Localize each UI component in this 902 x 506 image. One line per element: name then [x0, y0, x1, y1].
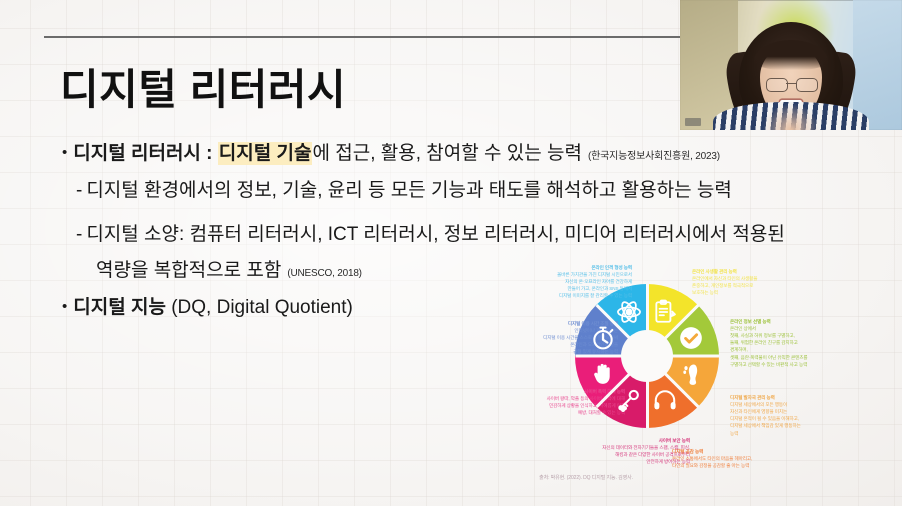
- dq-label-heading: 사이버 보안 능력: [458, 437, 690, 444]
- video-label-badge: [685, 118, 701, 126]
- page-title: 디지털 리터러시: [60, 56, 346, 117]
- line-5-rest: (DQ, Digital Quotient): [166, 297, 353, 318]
- presenter-eyeglass-bridge: [786, 83, 796, 84]
- dq-label-critical-thinking: 온라인 정보 선별 능력온라인 상에서 첫째, 사실과 허위 정보를 구별하고,…: [730, 318, 900, 368]
- dq-label-heading: 디지털 공감 능력: [672, 448, 872, 455]
- dq-donut-center-hole: [621, 330, 673, 382]
- presenter-shoulder-shading: [763, 104, 819, 130]
- dq-source-citation: 출처: 박유현. (2022). DQ 디지털 지능. 김영사.: [436, 474, 736, 481]
- dq-label-heading: 온라인 인격 형성 능력: [452, 264, 632, 271]
- dq-label-heading: 온라인 정보 선별 능력: [730, 318, 900, 325]
- dq-label-privacy: 온라인 사생활 관리 능력온라인에서 자신과 타인의 사생활을 존중하고, 개인…: [692, 268, 842, 296]
- video-wall-right: [853, 0, 902, 130]
- dq-label-body: 자신의 데이터와 전자기기들을 스팸, 스캠, 피싱, 해킹과 같은 다양한 사…: [602, 445, 690, 464]
- bullet-marker: •: [62, 299, 67, 316]
- dq-donut-chart: [575, 284, 719, 428]
- presenter-eyeglass-right: [796, 78, 818, 92]
- line-4-text: 역량을 복합적으로 포함: [96, 260, 281, 281]
- bullet-line-1: •디지털 리터러시 : 디지털 기술에 접근, 활용, 참여할 수 있는 능력(…: [62, 144, 720, 165]
- dq-label-security: 사이버 보안 능력자신의 데이터와 전자기기들을 스팸, 스캠, 피싱, 해킹과…: [458, 437, 690, 465]
- bullet-line-2: -디지털 환경에서의 정보, 기술, 윤리 등 모든 기능과 태도를 해석하고 …: [76, 181, 732, 202]
- presentation-slide-view: 디지털 리터러시 •디지털 리터러시 : 디지털 기술에 접근, 활용, 참여할…: [0, 0, 902, 506]
- dq-label-heading: 온라인 사생활 관리 능력: [692, 268, 842, 275]
- hand-stop-icon: [588, 359, 618, 389]
- presenter-video-thumbnail[interactable]: [680, 0, 902, 130]
- bullet-marker: •: [62, 145, 67, 162]
- stopwatch-icon: [588, 323, 618, 353]
- bullet-line-4: 역량을 복합적으로 포함(UNESCO, 2018): [96, 261, 362, 282]
- dq-label-identity: 온라인 인격 형성 능력올바른 가치관을 가진 디지털 시민으로서 자신의 온·…: [452, 264, 632, 300]
- line-2-text: 디지털 환경에서의 정보, 기술, 윤리 등 모든 기능과 태도를 해석하고 활…: [86, 180, 731, 201]
- headphones-icon: [650, 385, 680, 415]
- title-divider-rule: [44, 36, 686, 38]
- dash-marker: -: [76, 180, 82, 201]
- atom-icon: [614, 297, 644, 327]
- dq-label-heading: 디지털 발자국 관리 능력: [730, 394, 895, 401]
- footprint-icon: [676, 359, 706, 389]
- dq-label-body: 올바른 가치관을 가진 디지털 시민으로서 자신의 온·오프라인 자아를 건강하…: [557, 272, 632, 298]
- line-4-citation: (UNESCO, 2018): [287, 268, 361, 279]
- dq-label-body: 디지털 세상에서의 모든 행동이 자신과 타인에게 영향을 미치는 디지털 흔적…: [730, 402, 801, 435]
- key-icon: [614, 385, 644, 415]
- line-1-citation: (한국지능정보사회진흥원, 2023): [588, 151, 720, 162]
- dq-label-footprint: 디지털 발자국 관리 능력디지털 세상에서의 모든 행동이 자신과 타인에게 영…: [730, 394, 895, 437]
- line-3-text: 디지털 소양: 컴퓨터 리터러시, ICT 리터러시, 정보 리터러시, 미디어…: [86, 224, 785, 245]
- dq-label-empathy: 디지털 공감 능력온라인 소통에서도 타인의 마음을 헤아리고, 타인의 필요와…: [672, 448, 872, 469]
- dq-competency-diagram: 온라인 사생활 관리 능력온라인에서 자신과 타인의 사생활을 존중하고, 개인…: [430, 262, 902, 506]
- dq-label-body: 온라인 상에서 첫째, 사실과 허위 정보를 구별하고, 둘째, 위험한 온라인…: [730, 326, 807, 367]
- line-1-lead: 디지털 리터러시 :: [73, 143, 218, 164]
- line-1-rest: 에 접근, 활용, 참여할 수 있는 능력: [312, 143, 581, 164]
- line-5-bold: 디지털 지능: [73, 297, 166, 318]
- dash-marker: -: [76, 224, 82, 245]
- bullet-line-3: -디지털 소양: 컴퓨터 리터러시, ICT 리터러시, 정보 리터러시, 미디…: [76, 225, 785, 246]
- dq-label-body: 온라인에서 자신과 타인의 사생활을 존중하고, 개인정보를 적극적으로 보호하…: [692, 276, 757, 295]
- line-1-highlight: 디지털 기술: [218, 142, 313, 165]
- bullet-line-5: •디지털 지능 (DQ, Digital Quotient): [62, 298, 353, 319]
- presenter-eyeglass-left: [766, 78, 788, 92]
- check-circle-icon: [676, 323, 706, 353]
